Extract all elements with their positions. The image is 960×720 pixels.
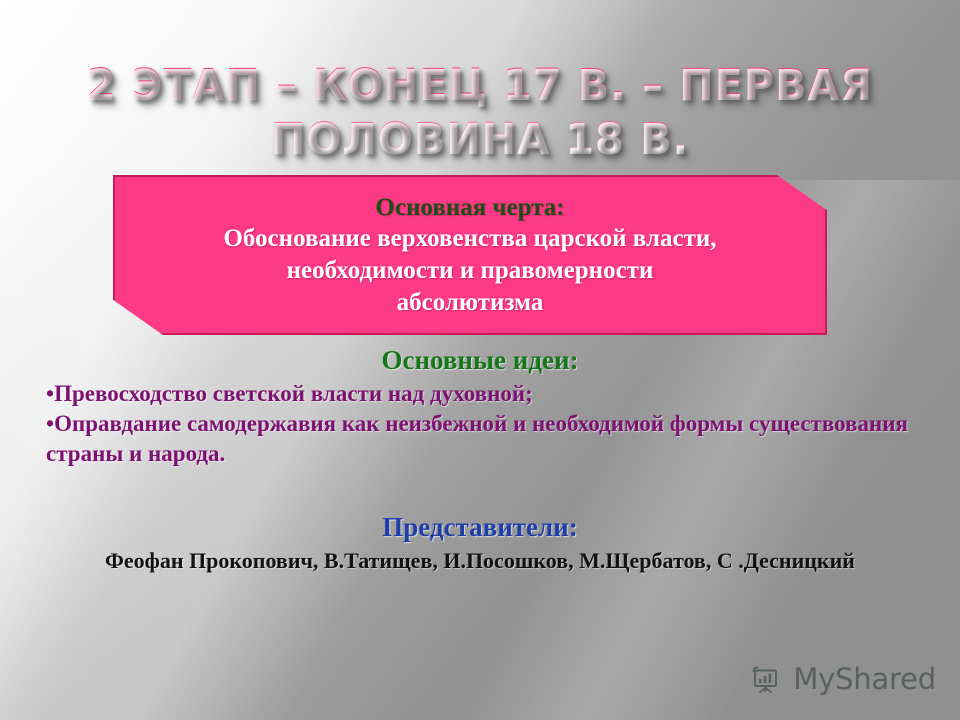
main-feature-line-3: абсолютизма: [397, 287, 544, 319]
presentation-slide: 2 ЭТАП – КОНЕЦ 17 В. – ПЕРВАЯ ПОЛОВИНА 1…: [0, 0, 960, 720]
main-ideas-list: •Превосходство светской власти над духов…: [46, 379, 926, 469]
myshared-watermark: MyShared: [749, 662, 936, 696]
list-item-label: Превосходство светской власти над духовн…: [54, 381, 533, 406]
list-item: •Превосходство светской власти над духов…: [46, 379, 926, 409]
representatives-heading: Представители:: [0, 511, 960, 543]
list-item: •Оправдание самодержавия как неизбежной …: [46, 409, 926, 469]
main-ideas-heading: Основные идеи:: [0, 344, 960, 376]
bullet-icon: •: [46, 411, 54, 436]
slide-title-line-2: ПОЛОВИНА 18 В.: [19, 112, 941, 166]
slide-title: 2 ЭТАП – КОНЕЦ 17 В. – ПЕРВАЯ ПОЛОВИНА 1…: [19, 58, 941, 166]
list-item-label: Оправдание самодержавия как неизбежной и…: [46, 411, 908, 466]
main-feature-banner: Основная черта: Обоснование верховенства…: [113, 175, 827, 335]
bullet-icon: •: [46, 381, 54, 406]
main-feature-heading: Основная черта:: [375, 192, 564, 223]
main-feature-line-1: Обоснование верховенства царской власти,: [223, 223, 716, 255]
slide-title-line-1: 2 ЭТАП – КОНЕЦ 17 В. – ПЕРВАЯ: [19, 58, 941, 112]
representatives-names: Феофан Прокопович, В.Татищев, И.Посошков…: [0, 547, 960, 575]
myshared-watermark-label: MyShared: [793, 664, 936, 694]
presentation-board-icon: [749, 662, 783, 696]
main-feature-line-2: необходимости и правомерности: [287, 255, 654, 287]
